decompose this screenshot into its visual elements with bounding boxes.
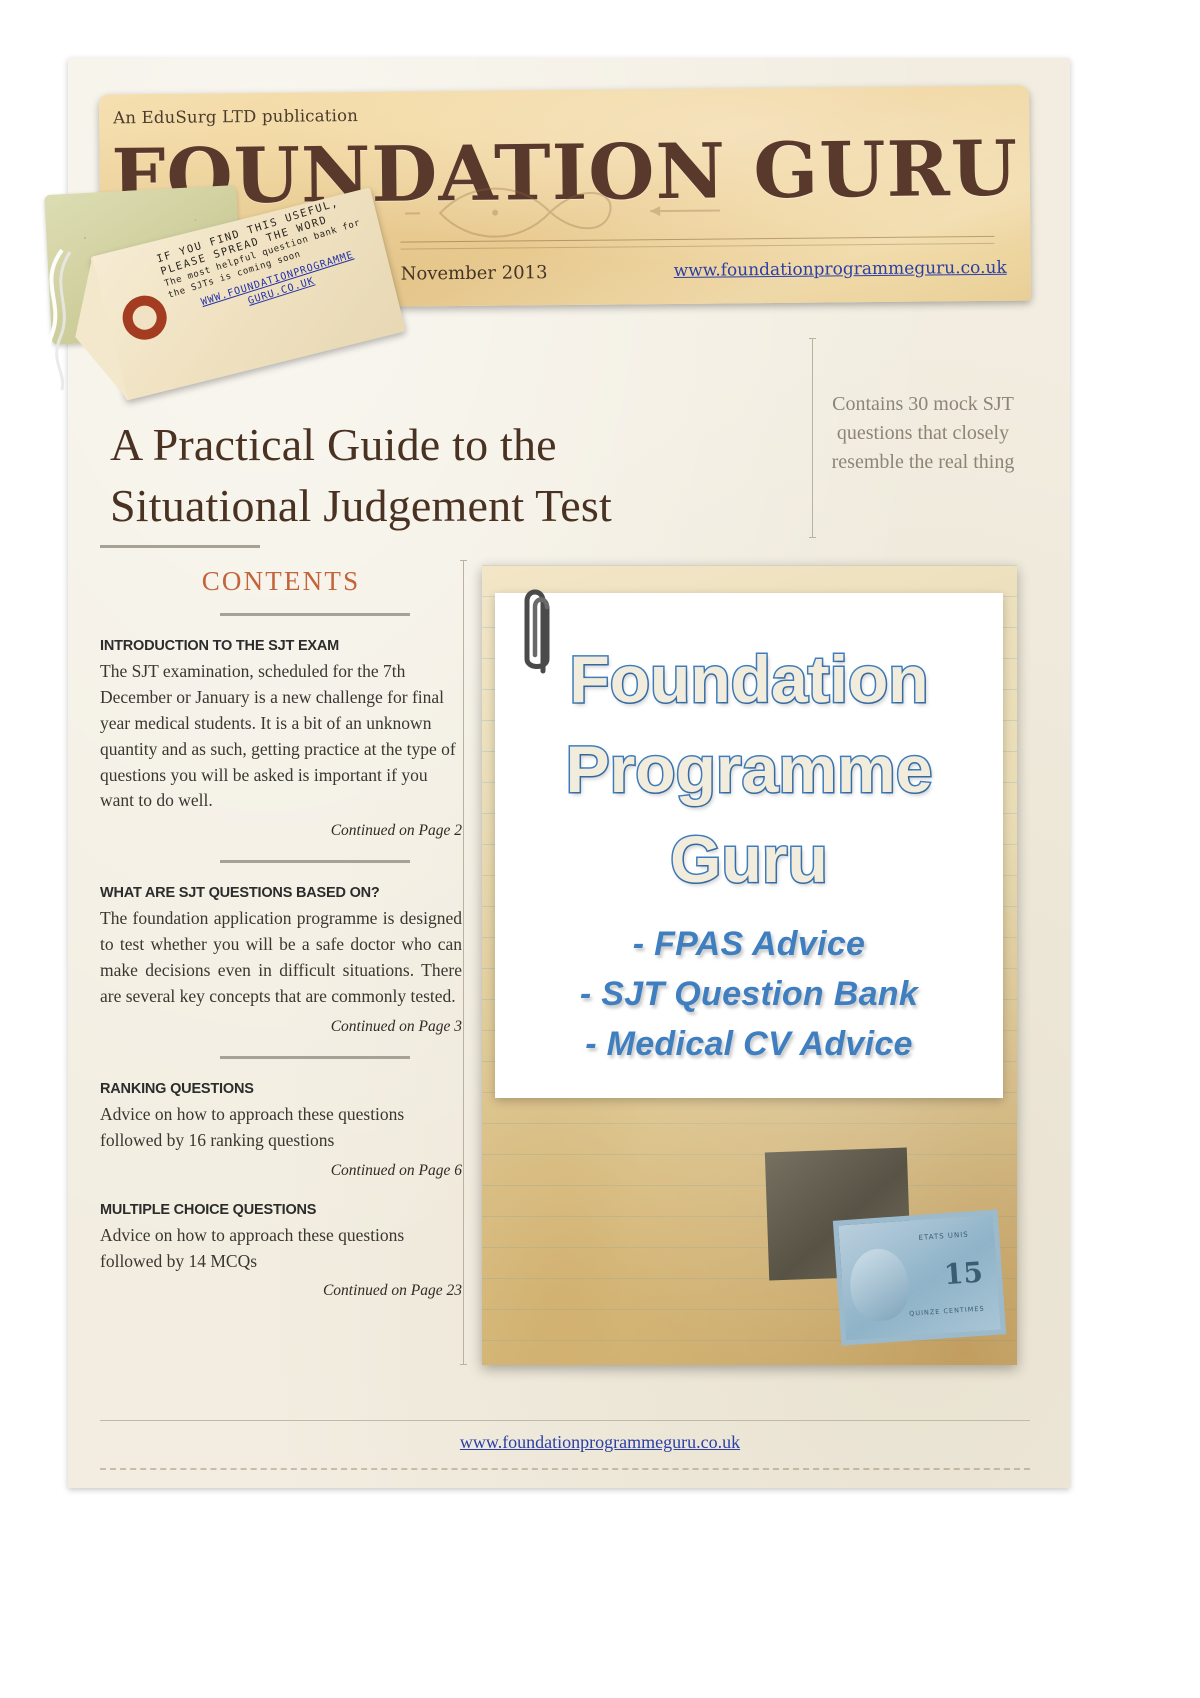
stamp-value: 15 [943, 1256, 984, 1292]
cover-title-line-2: Programme [495, 731, 1003, 807]
contents-separator [220, 1056, 410, 1059]
cover-bullet-1: - FPAS Advice [495, 925, 1003, 964]
cover-bullet-3: - Medical CV Advice [495, 1025, 1003, 1064]
cover-card: Foundation Programme Guru - FPAS Advice … [495, 593, 1003, 1098]
contents-rule-top [100, 545, 260, 548]
contents-item-heading: MULTIPLE CHOICE QUESTIONS [100, 1202, 462, 1218]
kicker-text: Contains 30 mock SJT questions that clos… [818, 390, 1028, 477]
contents-item-continued: Continued on Page 6 [100, 1162, 462, 1180]
list-item[interactable]: WHAT ARE SJT QUESTIONS BASED ON? The fou… [100, 885, 462, 1036]
cover-title-line-3: Guru [495, 821, 1003, 897]
contents-separator [220, 860, 410, 863]
contents-heading: CONTENTS [100, 566, 462, 597]
publisher-line: An EduSurg LTD publication [113, 106, 358, 127]
contents-item-continued: Continued on Page 3 [100, 1018, 462, 1036]
contents-item-heading: RANKING QUESTIONS [100, 1081, 462, 1097]
tag-eyelet [118, 291, 171, 344]
contents-item-continued: Continued on Page 23 [100, 1282, 462, 1300]
list-item[interactable]: MULTIPLE CHOICE QUESTIONS Advice on how … [100, 1202, 462, 1301]
contents-item-body: The foundation application programme is … [100, 906, 462, 1010]
footer-rule [100, 1420, 1030, 1421]
newsletter-page: An EduSurg LTD publication FOUNDATION GU… [0, 0, 1200, 1698]
contents-item-body: Advice on how to approach these question… [100, 1102, 462, 1154]
postage-stamp-blue: ETATS UNIS 15 QUINZE CENTIMES [833, 1209, 1006, 1345]
masthead-website-link[interactable]: www.foundationprogrammeguru.co.uk [674, 258, 1007, 281]
paperclip-icon [513, 581, 571, 677]
list-item[interactable]: RANKING QUESTIONS Advice on how to appro… [100, 1081, 462, 1180]
cover-bullet-2: - SJT Question Bank [495, 975, 1003, 1014]
cover-title-line-1: Foundation [495, 641, 1003, 717]
contents-item-heading: INTRODUCTION TO THE SJT EXAM [100, 638, 462, 654]
footer-dashed-rule [100, 1468, 1030, 1470]
contents-rule-under-heading [220, 613, 410, 616]
stamp-bottom-text: QUINZE CENTIMES [902, 1304, 991, 1318]
contents-item-body: The SJT examination, scheduled for the 7… [100, 659, 462, 814]
footer-website-link[interactable]: www.foundationprogrammeguru.co.uk [0, 1432, 1200, 1453]
contents-item-body: Advice on how to approach these question… [100, 1223, 462, 1275]
contents-item-heading: WHAT ARE SJT QUESTIONS BASED ON? [100, 885, 462, 901]
page-title: A Practical Guide to the Situational Jud… [110, 415, 750, 536]
stamp-top-text: ETATS UNIS [901, 1229, 986, 1243]
issue-date: November 2013 [401, 262, 548, 284]
cover-photo: ETATS UNIS 15 QUINZE CENTIMES Foundation… [482, 565, 1017, 1365]
column-divider [463, 560, 464, 1365]
contents-column: CONTENTS INTRODUCTION TO THE SJT EXAM Th… [100, 545, 462, 1300]
contents-item-continued: Continued on Page 2 [100, 822, 462, 840]
kicker-divider [812, 338, 813, 538]
list-item[interactable]: INTRODUCTION TO THE SJT EXAM The SJT exa… [100, 638, 462, 840]
